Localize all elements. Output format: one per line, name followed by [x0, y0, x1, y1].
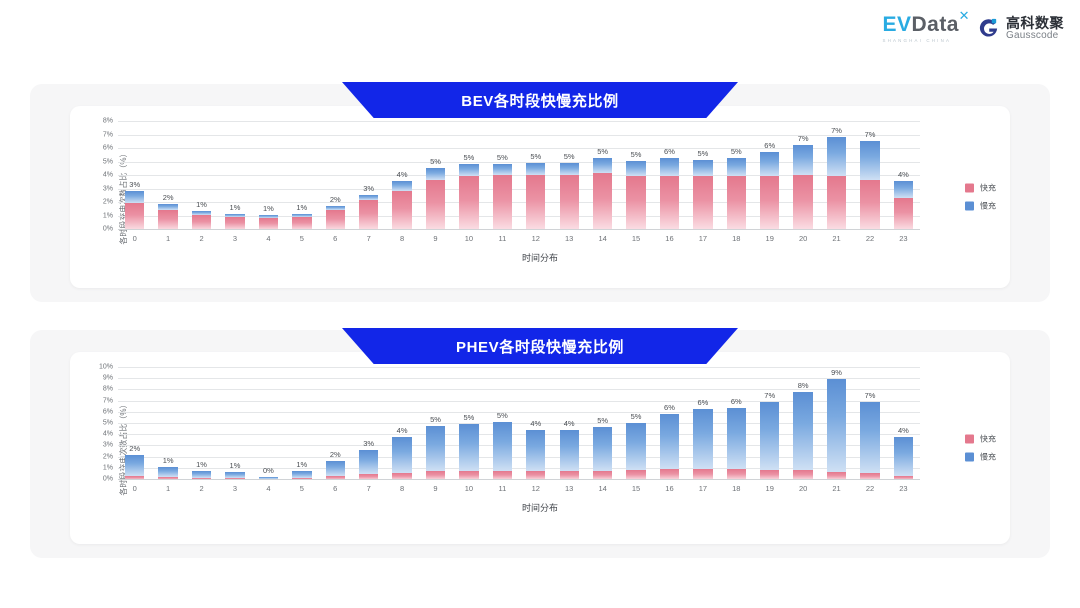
- bar-value-label: 1%: [296, 203, 307, 212]
- brand-logo-bar: EVData ✕ SHANGHAI CHINA 高科数聚 Gausscode: [882, 14, 1064, 43]
- bar-segment-fast-charge: [426, 180, 445, 230]
- y-tick-label: 5%: [103, 158, 113, 165]
- bev-title-ribbon: BEV各时段快慢充比例: [342, 82, 738, 118]
- bar-column[interactable]: 5%: [586, 122, 619, 230]
- bar-column[interactable]: 1%: [151, 368, 184, 480]
- phev-x-axis-line: [118, 479, 920, 480]
- bar-segment-slow-charge: [392, 437, 411, 473]
- evdata-subtitle: SHANGHAI CHINA: [882, 38, 951, 43]
- phev-bar-series: 2%1%1%1%0%1%2%3%4%5%5%5%4%4%5%5%6%6%6%7%…: [118, 368, 920, 480]
- x-tick-label: 20: [786, 234, 819, 243]
- bar-segment-slow-charge: [626, 423, 645, 470]
- bar-column[interactable]: 2%: [118, 368, 151, 480]
- phev-chart-card: 各时段充电次数占比（%） 0%1%2%3%4%5%6%7%8%9%10% 2%1…: [70, 352, 1010, 544]
- x-tick-label: 2: [185, 234, 218, 243]
- bar-segment-fast-charge: [526, 175, 545, 230]
- bar-column[interactable]: 6%: [653, 368, 686, 480]
- bar-column[interactable]: 5%: [419, 122, 452, 230]
- bar-column[interactable]: 5%: [486, 122, 519, 230]
- phev-legend-label-slow: 慢充: [980, 452, 996, 463]
- bar-value-label: 1%: [296, 460, 307, 469]
- bar-column[interactable]: 6%: [653, 122, 686, 230]
- bev-bar-series: 3%2%1%1%1%1%2%3%4%5%5%5%5%5%5%5%6%5%5%6%…: [118, 122, 920, 230]
- bar-value-label: 6%: [664, 147, 675, 156]
- y-tick-label: 5%: [103, 420, 113, 427]
- bar-column[interactable]: 4%: [385, 368, 418, 480]
- bev-legend-item-fast: 快充: [965, 183, 996, 194]
- bar-column[interactable]: 4%: [385, 122, 418, 230]
- y-tick-label: 4%: [103, 431, 113, 438]
- y-tick-label: 0%: [103, 476, 113, 483]
- bar-segment-slow-charge: [526, 163, 545, 175]
- bar-value-label: 4%: [397, 170, 408, 179]
- bar-value-label: 5%: [430, 415, 441, 424]
- bar-segment-fast-charge: [894, 198, 913, 230]
- bar-value-label: 5%: [430, 157, 441, 166]
- bar-segment-slow-charge: [894, 437, 913, 475]
- x-tick-label: 6: [319, 234, 352, 243]
- bar-segment-slow-charge: [793, 145, 812, 175]
- bar-column[interactable]: 2%: [151, 122, 184, 230]
- bar-value-label: 1%: [263, 204, 274, 213]
- bar-value-label: 5%: [530, 152, 541, 161]
- bar-segment-slow-charge: [426, 168, 445, 180]
- bar-value-label: 0%: [263, 466, 274, 475]
- bar-segment-slow-charge: [860, 141, 879, 180]
- x-tick-label: 19: [753, 484, 786, 493]
- bar-column[interactable]: 1%: [252, 122, 285, 230]
- bar-column[interactable]: 0%: [252, 368, 285, 480]
- bar-column[interactable]: 7%: [786, 122, 819, 230]
- bar-value-label: 3%: [363, 184, 374, 193]
- x-tick-label: 21: [820, 484, 853, 493]
- bar-value-label: 4%: [898, 170, 909, 179]
- phev-legend-item-fast: 快充: [965, 434, 996, 445]
- x-tick-label: 15: [619, 484, 652, 493]
- phev-x-tick-labels: 01234567891011121314151617181920212223: [118, 484, 920, 493]
- bev-title-text: BEV各时段快慢充比例: [461, 90, 618, 111]
- bar-value-label: 8%: [798, 381, 809, 390]
- x-tick-label: 14: [586, 234, 619, 243]
- bar-value-label: 5%: [464, 153, 475, 162]
- x-tick-label: 16: [653, 234, 686, 243]
- bar-segment-fast-charge: [459, 176, 478, 230]
- phev-chart: 各时段充电次数占比（%） 0%1%2%3%4%5%6%7%8%9%10% 2%1…: [70, 352, 1010, 544]
- bar-column[interactable]: 7%: [853, 122, 886, 230]
- bar-value-label: 5%: [631, 150, 642, 159]
- bar-segment-fast-charge: [292, 217, 311, 230]
- bar-segment-slow-charge: [593, 158, 612, 173]
- bar-value-label: 6%: [731, 397, 742, 406]
- bar-column[interactable]: 3%: [352, 122, 385, 230]
- bar-column[interactable]: 7%: [753, 368, 786, 480]
- bar-value-label: 2%: [330, 450, 341, 459]
- bar-segment-slow-charge: [593, 427, 612, 471]
- bar-value-label: 5%: [697, 149, 708, 158]
- bar-segment-slow-charge: [526, 430, 545, 471]
- bar-segment-fast-charge: [392, 191, 411, 230]
- x-tick-label: 7: [352, 234, 385, 243]
- x-tick-label: 4: [252, 234, 285, 243]
- bev-plot-area: 0%1%2%3%4%5%6%7%8% 3%2%1%1%1%1%2%3%4%5%5…: [118, 122, 920, 230]
- x-tick-label: 14: [586, 484, 619, 493]
- bar-column[interactable]: 4%: [887, 368, 920, 480]
- bar-column[interactable]: 1%: [218, 368, 251, 480]
- y-tick-label: 8%: [103, 386, 113, 393]
- bar-segment-slow-charge: [459, 424, 478, 471]
- bar-column[interactable]: 5%: [452, 368, 485, 480]
- bar-value-label: 5%: [497, 411, 508, 420]
- bar-value-label: 5%: [464, 413, 475, 422]
- evdata-cross-icon: ✕: [959, 9, 970, 22]
- bar-column[interactable]: 5%: [686, 122, 719, 230]
- bar-column[interactable]: 1%: [218, 122, 251, 230]
- bar-segment-fast-charge: [626, 176, 645, 230]
- phev-title-ribbon: PHEV各时段快慢充比例: [342, 328, 738, 364]
- bar-segment-slow-charge: [192, 471, 211, 478]
- evdata-ev-text: EV: [882, 14, 911, 35]
- bar-column[interactable]: 5%: [619, 122, 652, 230]
- y-tick-label: 4%: [103, 172, 113, 179]
- evdata-data-text: Data: [911, 14, 959, 35]
- bar-value-label: 4%: [397, 426, 408, 435]
- bar-value-label: 3%: [129, 180, 140, 189]
- bar-segment-slow-charge: [158, 467, 177, 477]
- legend-swatch-slow-icon: [965, 453, 974, 462]
- y-tick-label: 7%: [103, 397, 113, 404]
- y-tick-label: 1%: [103, 464, 113, 471]
- y-tick-label: 6%: [103, 408, 113, 415]
- y-tick-label: 9%: [103, 375, 113, 382]
- bar-column[interactable]: 5%: [519, 122, 552, 230]
- bar-value-label: 1%: [196, 200, 207, 209]
- y-tick-label: 8%: [103, 118, 113, 125]
- bev-x-tick-labels: 01234567891011121314151617181920212223: [118, 234, 920, 243]
- bar-segment-slow-charge: [493, 164, 512, 175]
- x-tick-label: 6: [319, 484, 352, 493]
- bar-value-label: 1%: [163, 456, 174, 465]
- bar-segment-slow-charge: [693, 160, 712, 176]
- y-tick-label: 1%: [103, 212, 113, 219]
- bar-column[interactable]: 7%: [820, 122, 853, 230]
- x-tick-label: 13: [552, 234, 585, 243]
- x-tick-label: 11: [486, 484, 519, 493]
- bar-value-label: 5%: [564, 152, 575, 161]
- bar-value-label: 2%: [330, 195, 341, 204]
- bar-column[interactable]: 7%: [853, 368, 886, 480]
- x-tick-label: 16: [653, 484, 686, 493]
- y-tick-label: 0%: [103, 226, 113, 233]
- evdata-wordmark: EVData ✕: [882, 14, 959, 35]
- bar-segment-slow-charge: [292, 471, 311, 478]
- x-tick-label: 8: [385, 484, 418, 493]
- x-tick-label: 15: [619, 234, 652, 243]
- bar-segment-slow-charge: [560, 163, 579, 175]
- x-tick-label: 23: [887, 234, 920, 243]
- bar-segment-slow-charge: [326, 461, 345, 476]
- bar-column[interactable]: 4%: [519, 368, 552, 480]
- bar-column[interactable]: 5%: [586, 368, 619, 480]
- bar-value-label: 2%: [163, 193, 174, 202]
- bar-segment-fast-charge: [860, 180, 879, 230]
- bar-value-label: 2%: [129, 444, 140, 453]
- bar-segment-fast-charge: [359, 200, 378, 230]
- x-tick-label: 18: [720, 484, 753, 493]
- bar-segment-fast-charge: [827, 176, 846, 230]
- x-tick-label: 20: [786, 484, 819, 493]
- x-tick-label: 0: [118, 484, 151, 493]
- bar-column[interactable]: 8%: [786, 368, 819, 480]
- bar-segment-fast-charge: [192, 215, 211, 230]
- bar-segment-fast-charge: [125, 203, 144, 230]
- y-tick-label: 7%: [103, 131, 113, 138]
- bar-column[interactable]: 2%: [319, 368, 352, 480]
- phev-plot-area: 0%1%2%3%4%5%6%7%8%9%10% 2%1%1%1%0%1%2%3%…: [118, 368, 920, 480]
- x-tick-label: 5: [285, 234, 318, 243]
- bar-segment-slow-charge: [392, 181, 411, 190]
- bar-segment-slow-charge: [760, 402, 779, 470]
- x-tick-label: 8: [385, 234, 418, 243]
- bev-chart-card: 各时段充电次数占比（%） 0%1%2%3%4%5%6%7%8% 3%2%1%1%…: [70, 106, 1010, 288]
- bar-value-label: 9%: [831, 368, 842, 377]
- bar-segment-slow-charge: [760, 152, 779, 176]
- bar-segment-slow-charge: [359, 450, 378, 475]
- x-tick-label: 0: [118, 234, 151, 243]
- bar-segment-slow-charge: [125, 455, 144, 475]
- bar-column[interactable]: 1%: [185, 122, 218, 230]
- bar-segment-fast-charge: [225, 217, 244, 230]
- bar-segment-fast-charge: [326, 210, 345, 230]
- gausscode-en-name: Gausscode: [1006, 31, 1064, 42]
- phev-legend: 快充 慢充: [965, 434, 996, 463]
- slide-page: EVData ✕ SHANGHAI CHINA 高科数聚 Gausscode 各…: [0, 0, 1080, 608]
- gausscode-cn-name: 高科数聚: [1006, 16, 1064, 31]
- bar-column[interactable]: 3%: [118, 122, 151, 230]
- x-tick-label: 12: [519, 484, 552, 493]
- y-tick-label: 2%: [103, 199, 113, 206]
- x-tick-label: 23: [887, 484, 920, 493]
- bar-value-label: 7%: [798, 134, 809, 143]
- y-tick-label: 10%: [99, 364, 113, 371]
- bar-column[interactable]: 5%: [552, 122, 585, 230]
- bar-column[interactable]: 3%: [352, 368, 385, 480]
- bar-value-label: 5%: [597, 147, 608, 156]
- bar-column[interactable]: 5%: [452, 122, 485, 230]
- bar-value-label: 6%: [764, 141, 775, 150]
- y-tick-label: 6%: [103, 145, 113, 152]
- bar-segment-slow-charge: [827, 137, 846, 176]
- bar-segment-slow-charge: [860, 402, 879, 474]
- bar-segment-slow-charge: [493, 422, 512, 471]
- bar-value-label: 5%: [731, 147, 742, 156]
- bar-value-label: 7%: [764, 391, 775, 400]
- x-tick-label: 21: [820, 234, 853, 243]
- bar-value-label: 3%: [363, 439, 374, 448]
- bar-segment-slow-charge: [660, 158, 679, 176]
- bar-column[interactable]: 4%: [887, 122, 920, 230]
- bar-column[interactable]: 1%: [285, 368, 318, 480]
- x-tick-label: 5: [285, 484, 318, 493]
- bev-legend: 快充 慢充: [965, 183, 996, 212]
- bar-segment-fast-charge: [793, 175, 812, 230]
- x-tick-label: 4: [252, 484, 285, 493]
- bar-column[interactable]: 2%: [319, 122, 352, 230]
- x-tick-label: 7: [352, 484, 385, 493]
- bar-value-label: 7%: [865, 391, 876, 400]
- phev-legend-label-fast: 快充: [980, 434, 996, 445]
- phev-x-axis-label: 时间分布: [70, 501, 1010, 514]
- bar-column[interactable]: 1%: [185, 368, 218, 480]
- gausscode-g-icon: [977, 17, 1000, 40]
- bar-segment-fast-charge: [493, 175, 512, 230]
- bev-legend-label-slow: 慢充: [980, 201, 996, 212]
- bar-column[interactable]: 5%: [419, 368, 452, 480]
- y-tick-label: 3%: [103, 185, 113, 192]
- x-tick-label: 13: [552, 484, 585, 493]
- bar-value-label: 5%: [497, 153, 508, 162]
- x-tick-label: 3: [218, 234, 251, 243]
- x-tick-label: 18: [720, 234, 753, 243]
- x-tick-label: 12: [519, 234, 552, 243]
- bar-value-label: 4%: [564, 419, 575, 428]
- x-tick-label: 1: [151, 234, 184, 243]
- x-tick-label: 19: [753, 234, 786, 243]
- x-tick-label: 1: [151, 484, 184, 493]
- bar-segment-slow-charge: [693, 409, 712, 468]
- bar-segment-fast-charge: [727, 176, 746, 230]
- bar-segment-slow-charge: [793, 392, 812, 470]
- legend-swatch-fast-icon: [965, 184, 974, 193]
- bar-value-label: 6%: [664, 403, 675, 412]
- x-tick-label: 2: [185, 484, 218, 493]
- x-tick-label: 10: [452, 484, 485, 493]
- bar-value-label: 6%: [697, 398, 708, 407]
- bar-value-label: 1%: [230, 203, 241, 212]
- x-tick-label: 17: [686, 234, 719, 243]
- x-tick-label: 9: [419, 484, 452, 493]
- bar-column[interactable]: 9%: [820, 368, 853, 480]
- x-tick-label: 17: [686, 484, 719, 493]
- bev-x-axis-label: 时间分布: [70, 251, 1010, 264]
- bar-column[interactable]: 5%: [619, 368, 652, 480]
- phev-title-text: PHEV各时段快慢充比例: [456, 336, 624, 357]
- y-tick-label: 2%: [103, 453, 113, 460]
- y-tick-label: 3%: [103, 442, 113, 449]
- bar-value-label: 1%: [196, 460, 207, 469]
- x-tick-label: 22: [853, 234, 886, 243]
- bar-value-label: 4%: [898, 426, 909, 435]
- bar-segment-slow-charge: [727, 158, 746, 176]
- bar-segment-slow-charge: [894, 181, 913, 197]
- bar-segment-slow-charge: [626, 161, 645, 176]
- bar-value-label: 4%: [530, 419, 541, 428]
- bar-column[interactable]: 6%: [720, 368, 753, 480]
- legend-swatch-fast-icon: [965, 435, 974, 444]
- bar-segment-slow-charge: [560, 430, 579, 471]
- gausscode-logo: 高科数聚 Gausscode: [977, 16, 1064, 41]
- x-tick-label: 3: [218, 484, 251, 493]
- phev-panel: 各时段充电次数占比（%） 0%1%2%3%4%5%6%7%8%9%10% 2%1…: [30, 330, 1050, 558]
- bar-segment-slow-charge: [125, 191, 144, 203]
- bar-column[interactable]: 5%: [486, 368, 519, 480]
- evdata-logo: EVData ✕ SHANGHAI CHINA: [882, 14, 959, 43]
- x-tick-label: 9: [419, 234, 452, 243]
- bar-segment-slow-charge: [827, 379, 846, 472]
- x-tick-label: 11: [486, 234, 519, 243]
- bar-value-label: 7%: [865, 130, 876, 139]
- bar-segment-fast-charge: [693, 176, 712, 230]
- bar-segment-fast-charge: [560, 175, 579, 230]
- bar-value-label: 1%: [230, 461, 241, 470]
- legend-swatch-slow-icon: [965, 202, 974, 211]
- x-tick-label: 10: [452, 234, 485, 243]
- bar-column[interactable]: 6%: [686, 368, 719, 480]
- bev-x-axis-line: [118, 229, 920, 230]
- bar-value-label: 5%: [631, 412, 642, 421]
- bar-column[interactable]: 4%: [552, 368, 585, 480]
- bar-value-label: 7%: [831, 126, 842, 135]
- bar-column[interactable]: 6%: [753, 122, 786, 230]
- bar-segment-fast-charge: [660, 176, 679, 230]
- bar-column[interactable]: 1%: [285, 122, 318, 230]
- bar-segment-fast-charge: [760, 176, 779, 230]
- bar-value-label: 5%: [597, 416, 608, 425]
- bar-segment-slow-charge: [459, 164, 478, 176]
- bar-segment-slow-charge: [426, 426, 445, 471]
- bev-chart: 各时段充电次数占比（%） 0%1%2%3%4%5%6%7%8% 3%2%1%1%…: [70, 106, 1010, 288]
- phev-legend-item-slow: 慢充: [965, 452, 996, 463]
- bar-segment-fast-charge: [158, 210, 177, 230]
- bar-segment-slow-charge: [660, 414, 679, 469]
- x-tick-label: 22: [853, 484, 886, 493]
- bar-segment-slow-charge: [727, 408, 746, 468]
- gausscode-text: 高科数聚 Gausscode: [1006, 16, 1064, 41]
- bar-column[interactable]: 5%: [720, 122, 753, 230]
- bev-legend-item-slow: 慢充: [965, 201, 996, 212]
- bev-legend-label-fast: 快充: [980, 183, 996, 194]
- bar-segment-fast-charge: [593, 173, 612, 230]
